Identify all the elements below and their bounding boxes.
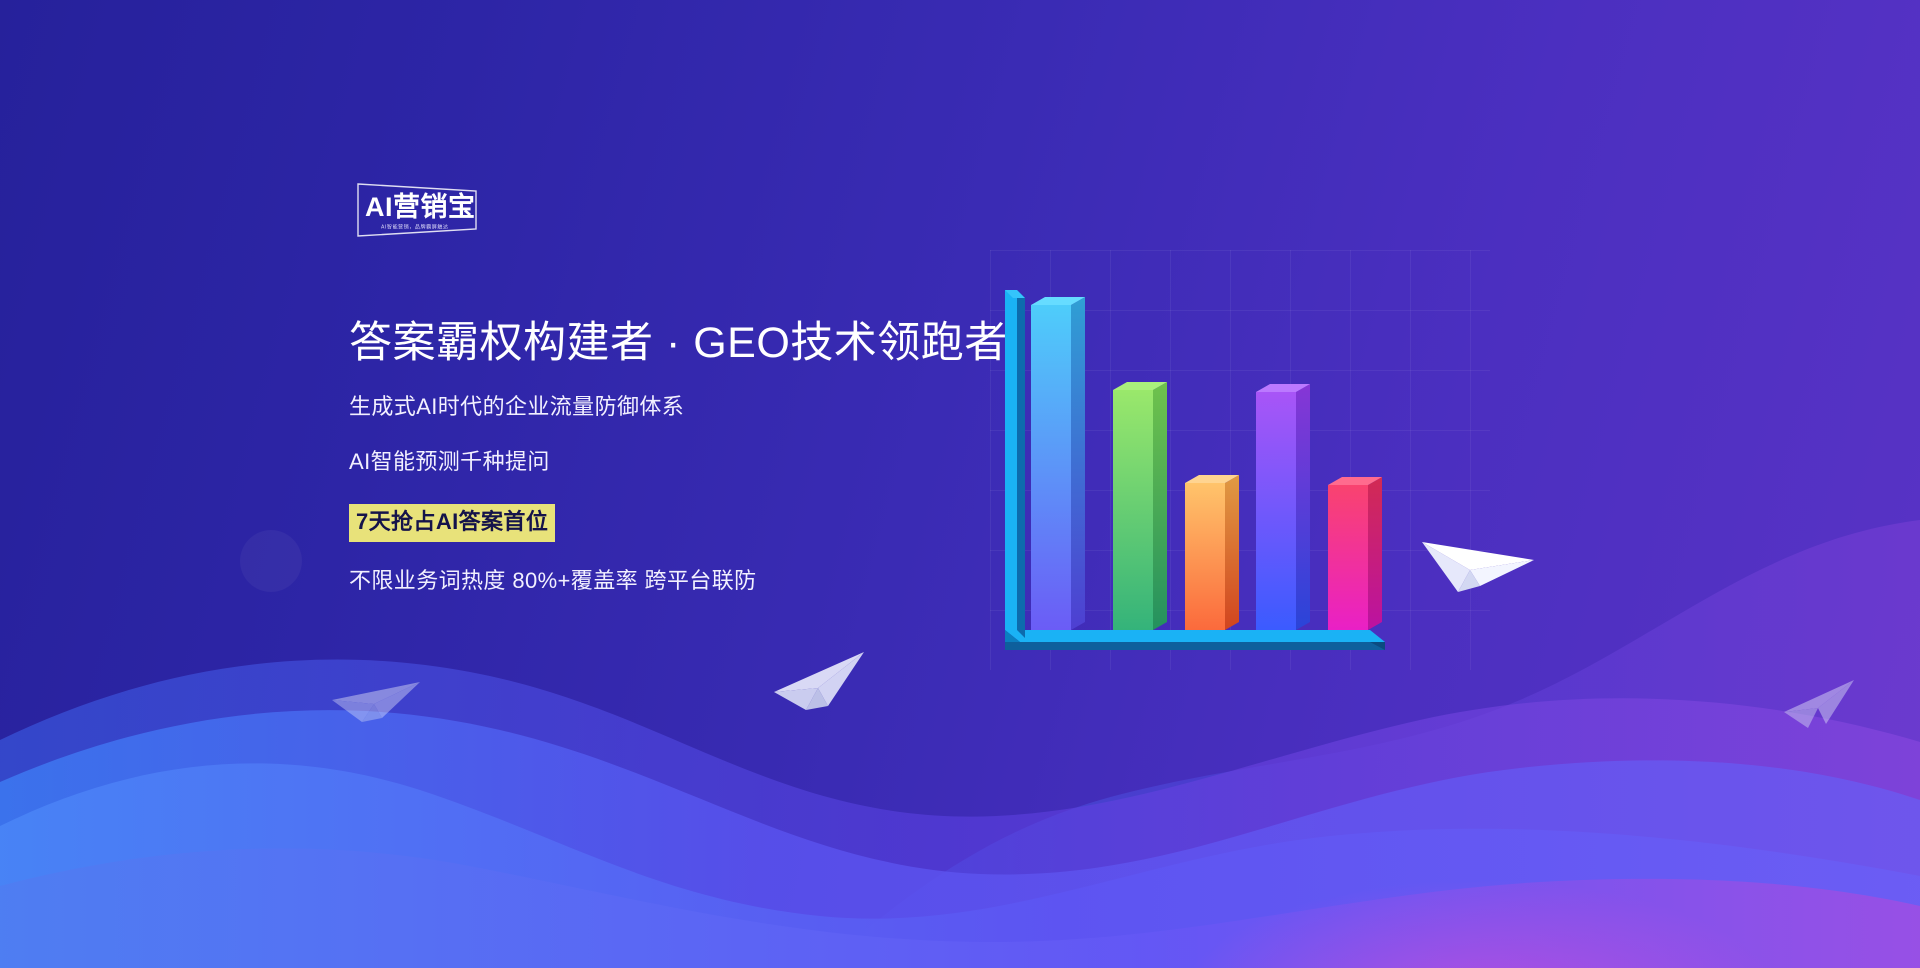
chart-base bbox=[1005, 630, 1385, 650]
paper-plane-center bbox=[772, 648, 872, 718]
hero-subline-1: 生成式AI时代的企业流量防御体系 bbox=[349, 393, 1069, 422]
paper-plane-left bbox=[330, 660, 430, 730]
chart-bar-1 bbox=[1031, 297, 1085, 630]
logo-wordmark: AI营销宝 bbox=[365, 192, 473, 222]
hero-highlight-row: 7天抢占AI答案首位 bbox=[349, 504, 1069, 567]
hero-highlight-badge: 7天抢占AI答案首位 bbox=[349, 504, 555, 542]
bar-chart-illustration bbox=[975, 290, 1455, 670]
logo-tagline: AI智能营销，品牌霸屏触达 bbox=[366, 223, 464, 230]
circle-decoration bbox=[240, 530, 302, 592]
chart-bar-2 bbox=[1113, 382, 1167, 630]
chart-bar-5 bbox=[1328, 477, 1382, 630]
brand-logo[interactable]: AI营销宝 AI智能营销，品牌霸屏触达 bbox=[352, 180, 482, 240]
hero-subline-2: AI智能预测千种提问 bbox=[349, 448, 1069, 477]
paper-plane-right bbox=[1418, 520, 1538, 600]
page-title: 答案霸权构建者 · GEO技术领跑者 bbox=[349, 318, 1069, 369]
hero-banner: AI营销宝 AI智能营销，品牌霸屏触达 答案霸权构建者 · GEO技术领跑者 生… bbox=[0, 0, 1920, 968]
paper-plane-far-right bbox=[1782, 678, 1862, 738]
hero-copy: 答案霸权构建者 · GEO技术领跑者 生成式AI时代的企业流量防御体系 AI智能… bbox=[349, 318, 1069, 595]
hero-subline-3: 不限业务词热度 80%+覆盖率 跨平台联防 bbox=[349, 567, 1069, 596]
chart-bar-4 bbox=[1256, 384, 1310, 630]
chart-y-axis bbox=[1005, 290, 1025, 638]
chart-bar-3 bbox=[1185, 475, 1239, 630]
